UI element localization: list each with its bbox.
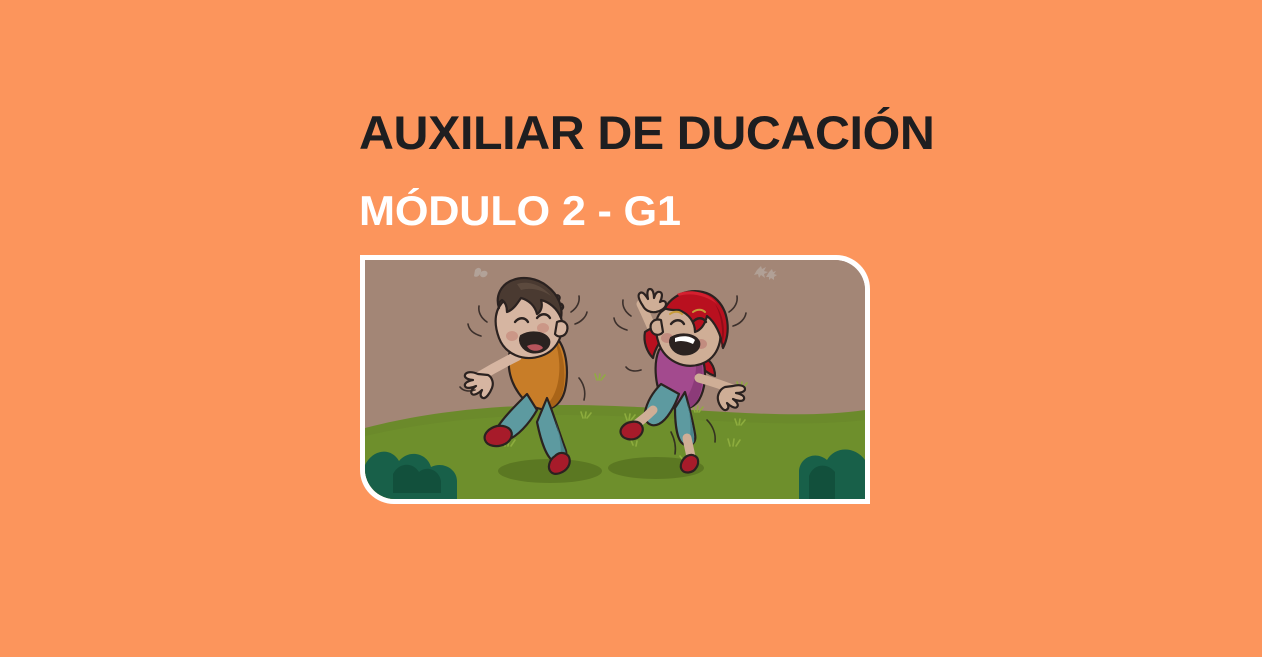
slide-canvas: AUXILIAR DE DUCACIÓN MÓDULO 2 - G1	[0, 0, 1262, 657]
page-subtitle: MÓDULO 2 - G1	[359, 186, 1224, 236]
girl-shoe-back	[681, 455, 698, 473]
girl-shoe-front	[621, 422, 643, 440]
bush-right	[799, 450, 865, 500]
boy-ear	[555, 321, 567, 336]
illustration-frame	[365, 260, 865, 499]
illustration-card	[360, 255, 870, 504]
boy-cheek-left	[506, 331, 518, 341]
boy-shoe-front	[485, 426, 512, 446]
girl-ear	[651, 320, 663, 335]
title-block: AUXILIAR DE DUCACIÓN MÓDULO 2 - G1	[359, 104, 1199, 236]
page-title: AUXILIAR DE DUCACIÓN	[359, 104, 1224, 162]
children-jumping-illustration	[365, 260, 865, 499]
boy-cheek-right	[537, 323, 549, 333]
